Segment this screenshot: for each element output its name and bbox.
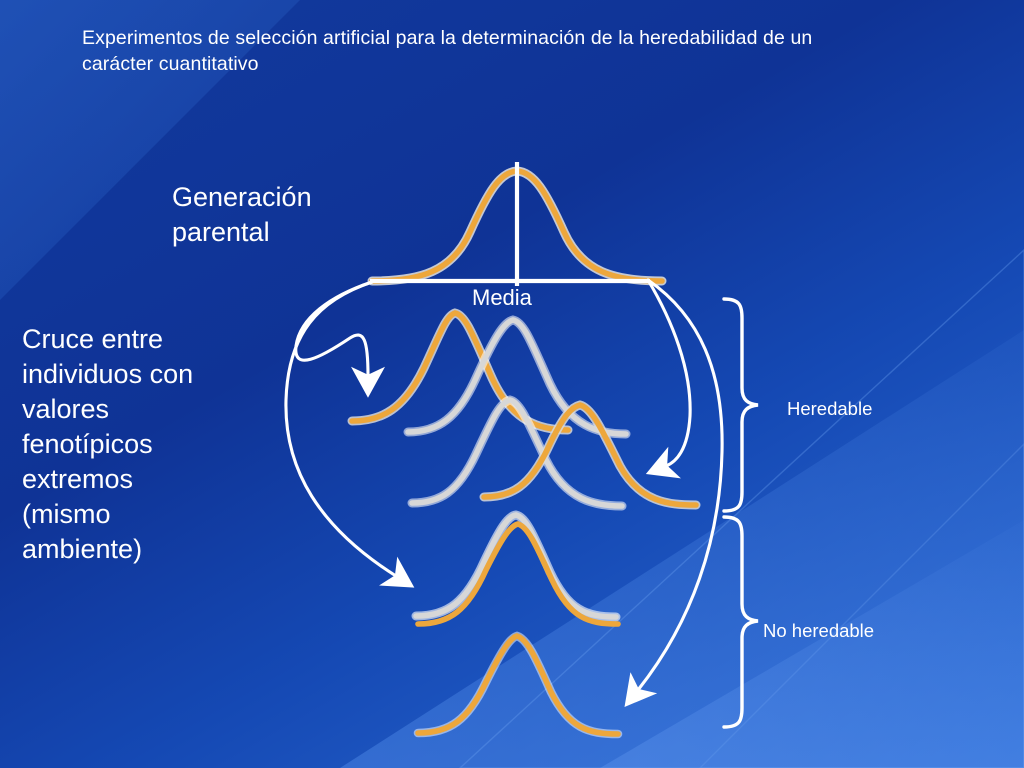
row-nh1 bbox=[416, 515, 618, 624]
label-media: Media bbox=[472, 285, 532, 311]
label-cruce-entre-individuos: Cruce entre individuos con valores fenot… bbox=[22, 322, 272, 567]
brace-group bbox=[724, 299, 758, 727]
brace-heredable bbox=[724, 299, 758, 511]
row-nh2 bbox=[418, 636, 618, 734]
curve-nh2-shadow bbox=[418, 636, 618, 734]
slide-canvas: Experimentos de selección artificial par… bbox=[0, 0, 1024, 768]
curve-f2-orange-right bbox=[484, 405, 696, 505]
arrow-right-to-row5 bbox=[638, 280, 722, 690]
curve-nh1-grey bbox=[416, 515, 616, 617]
row-generacion-parental bbox=[370, 162, 662, 286]
curve-nh2-orange bbox=[418, 636, 618, 734]
curve-nh1-grey-shadow bbox=[416, 515, 616, 617]
label-no-heredable: No heredable bbox=[763, 620, 874, 642]
label-generacion-parental: Generación parental bbox=[172, 180, 312, 250]
label-heredable: Heredable bbox=[787, 398, 872, 420]
brace-no-heredable bbox=[724, 517, 758, 727]
row-f1 bbox=[352, 313, 626, 434]
arrow-right-to-row3 bbox=[648, 280, 690, 466]
arrow-group bbox=[286, 280, 722, 690]
arrow-left-to-row2 bbox=[296, 282, 372, 376]
